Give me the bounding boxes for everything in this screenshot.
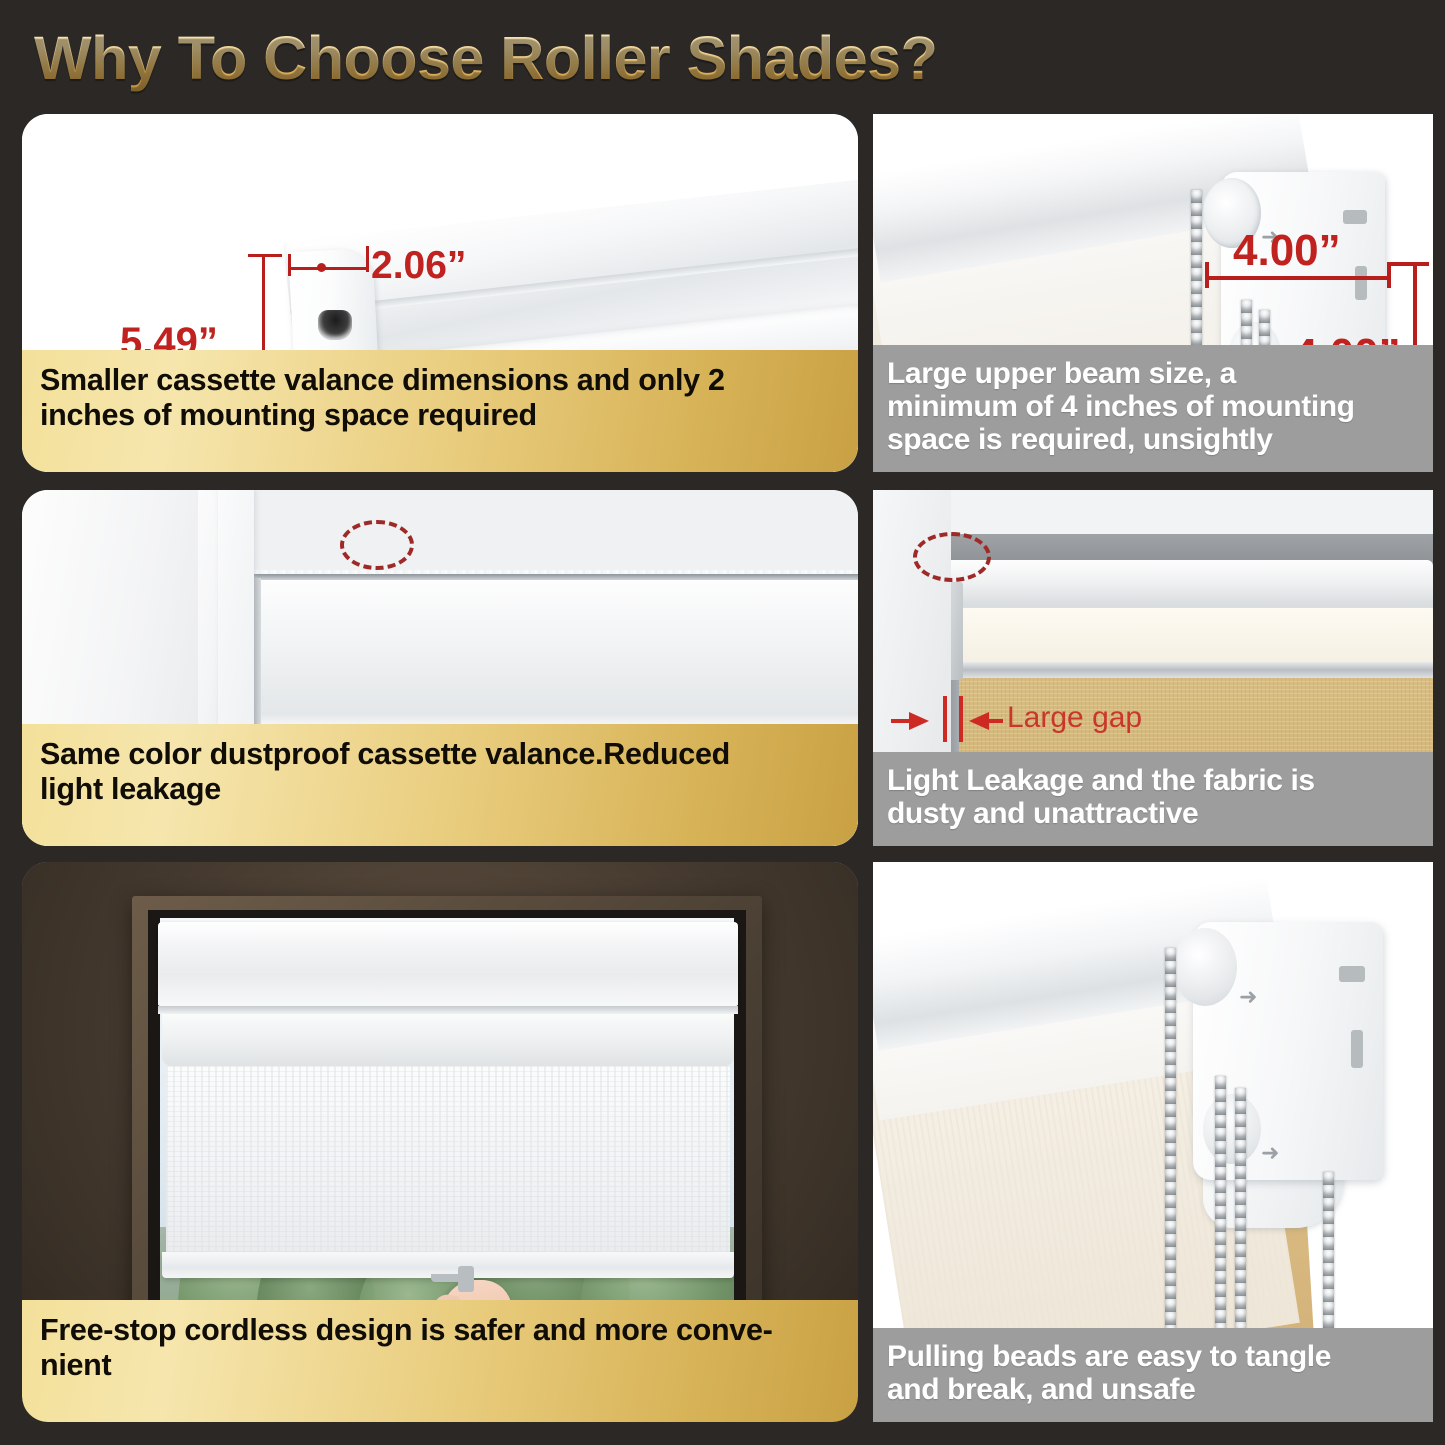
width-dimension-tick-left xyxy=(288,254,291,276)
panel-large-upper-beam: ➜ ➜ 4.00” 4.00” Large upper beam size, a… xyxy=(873,114,1433,472)
gap-marker xyxy=(943,696,947,742)
panel-caption-cassette-valance: Smaller cassette valance dimensions and … xyxy=(22,350,858,472)
bracket-arrow-icon: ➜ xyxy=(1239,984,1257,1010)
page-title: Why To Choose Roller Shades? xyxy=(34,18,1034,98)
width-dimension-line xyxy=(290,267,368,270)
width-dimension-label: 2.06” xyxy=(371,244,466,288)
caption-line: Large upper beam size, a xyxy=(887,357,1419,390)
caption-line: dusty and unattractive xyxy=(887,797,1419,830)
caption-line: Smaller cassette valance dimensions and … xyxy=(40,363,840,397)
panel-caption-dustproof-valance: Same color dustproof cassette valance.Re… xyxy=(22,724,858,846)
infographic-page: Why To Choose Roller Shades? 5.49” 2.06” xyxy=(0,0,1445,1445)
highlight-ellipse xyxy=(913,532,991,582)
roller-shade xyxy=(158,922,738,1282)
gap-arrow-right-icon xyxy=(909,712,929,730)
cassette-valance xyxy=(158,922,738,1006)
caption-line: Same color dustproof cassette valance.Re… xyxy=(40,737,840,771)
gap-marker xyxy=(959,696,963,742)
panel-cassette-valance: 5.49” 2.06” Smaller cassette valance dim… xyxy=(22,114,858,472)
gap-label-large: Large gap xyxy=(1007,701,1142,735)
beam-width-label: 4.00” xyxy=(1233,226,1341,276)
panel-pulling-beads: ➜ ➜ Pulling beads are easy to tangle and… xyxy=(873,862,1433,1422)
beam-height-tick-top xyxy=(1389,262,1429,266)
gap-arrow-stem xyxy=(891,719,911,723)
panel-caption-cordless-design: Free-stop cordless design is safer and m… xyxy=(22,1300,858,1422)
caption-line: light leakage xyxy=(40,772,840,806)
bracket-arrow-icon: ➜ xyxy=(1261,1140,1279,1166)
caption-line: Free-stop cordless design is safer and m… xyxy=(40,1313,840,1347)
caption-line: Light Leakage and the fabric is xyxy=(887,764,1419,797)
gap-arrow-stem xyxy=(987,719,1003,723)
width-dimension-tick-right xyxy=(366,246,369,272)
panel-cordless-design: Free-stop cordless design is safer and m… xyxy=(22,862,858,1422)
caption-line: nient xyxy=(40,1348,840,1382)
caption-line: and break, and unsafe xyxy=(887,1373,1419,1406)
roller-end-disc xyxy=(1173,928,1237,1006)
caption-line: space is required, unsightly xyxy=(887,423,1419,456)
caption-line: inches of mounting space required xyxy=(40,398,840,432)
height-dimension-tick-top xyxy=(248,254,282,257)
beam-width-tick-left xyxy=(1205,262,1209,288)
panel-caption-light-leakage: Light Leakage and the fabric is dusty an… xyxy=(873,752,1433,846)
pull-grip xyxy=(458,1266,474,1292)
gap-arrow-left-icon xyxy=(969,712,989,730)
panel-caption-large-upper-beam: Large upper beam size, a minimum of 4 in… xyxy=(873,345,1433,472)
caption-line: minimum of 4 inches of mounting xyxy=(887,390,1419,423)
caption-line: Pulling beads are easy to tangle xyxy=(887,1340,1419,1373)
panel-light-leakage: Large gap Light Leakage and the fabric i… xyxy=(873,490,1433,846)
panel-caption-pulling-beads: Pulling beads are easy to tangle and bre… xyxy=(873,1328,1433,1422)
valance-slot xyxy=(318,310,352,340)
highlight-ellipse xyxy=(340,520,414,570)
bracket-notch xyxy=(1339,966,1365,982)
panel-dustproof-valance: smaller gap Same color dustproof cassett… xyxy=(22,490,858,846)
beam-width-dimension-line xyxy=(1207,276,1391,280)
bracket-notch xyxy=(1343,210,1367,224)
shade-fabric xyxy=(166,1066,730,1272)
bracket-notch xyxy=(1355,266,1367,300)
roller-end-disc xyxy=(1203,1094,1261,1164)
bracket-notch xyxy=(1351,1030,1363,1068)
